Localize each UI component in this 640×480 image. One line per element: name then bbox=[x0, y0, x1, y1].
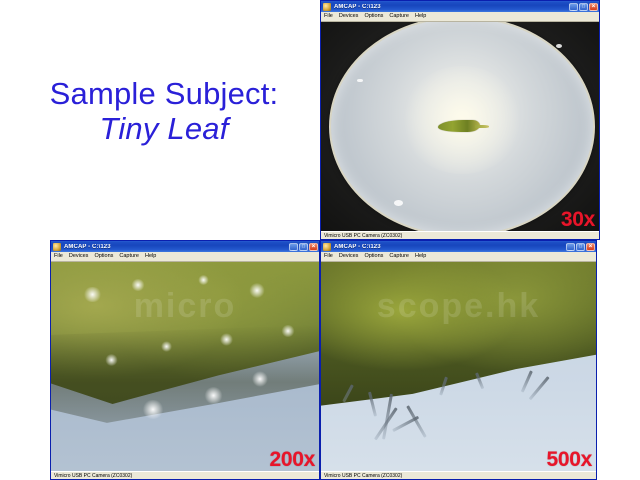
status-text: Vimicro USB PC Camera (ZC0302) bbox=[54, 474, 132, 479]
video-preview-30x: 30x bbox=[321, 22, 599, 231]
maximize-icon: □ bbox=[582, 4, 585, 9]
minimize-icon: _ bbox=[569, 246, 572, 251]
trichome bbox=[521, 370, 533, 392]
leaf-shading bbox=[51, 325, 319, 430]
menu-item-devices[interactable]: Devices bbox=[339, 254, 359, 260]
status-bar: Vimicro USB PC Camera (ZC0302) bbox=[51, 471, 319, 480]
title-bar[interactable]: AMCAP - C:\123 _ □ ✕ bbox=[321, 1, 599, 12]
window-title: AMCAP - C:\123 bbox=[334, 4, 569, 10]
menu-item-devices[interactable]: Devices bbox=[339, 14, 359, 20]
video-preview-200x: micro 200x bbox=[51, 262, 319, 471]
menu-item-file[interactable]: File bbox=[324, 14, 333, 20]
screenshot-canvas: Sample Subject: Tiny Leaf AMCAP - C:\123… bbox=[0, 0, 640, 480]
menu-item-capture[interactable]: Capture bbox=[389, 254, 409, 260]
dish-speck bbox=[357, 79, 362, 82]
menu-item-options[interactable]: Options bbox=[364, 254, 383, 260]
close-button[interactable]: ✕ bbox=[589, 3, 598, 11]
maximize-icon: □ bbox=[579, 244, 582, 249]
app-icon bbox=[323, 243, 331, 251]
minimize-button[interactable]: _ bbox=[566, 243, 575, 251]
app-icon bbox=[53, 243, 61, 251]
window-title: AMCAP - C:\123 bbox=[64, 244, 289, 250]
status-bar: Vimicro USB PC Camera (ZC0302) bbox=[321, 471, 596, 480]
minimize-button[interactable]: _ bbox=[289, 243, 298, 251]
status-bar: Vimicro USB PC Camera (ZC0302) bbox=[321, 231, 599, 240]
menu-item-help[interactable]: Help bbox=[415, 254, 426, 260]
window-controls[interactable]: _ □ ✕ bbox=[289, 243, 318, 251]
dish-speck bbox=[394, 200, 403, 206]
menu-item-options[interactable]: Options bbox=[94, 254, 113, 260]
menu-item-file[interactable]: File bbox=[324, 254, 333, 260]
title-bar[interactable]: AMCAP - C:\123 _ □ ✕ bbox=[51, 241, 319, 252]
leaf-body bbox=[438, 120, 480, 132]
page-title-line-1: Sample Subject: bbox=[14, 78, 314, 111]
petri-dish-scene bbox=[321, 22, 599, 231]
menu-bar[interactable]: File Devices Options Capture Help bbox=[51, 252, 319, 262]
page-title: Sample Subject: Tiny Leaf bbox=[14, 78, 314, 146]
maximize-icon: □ bbox=[302, 244, 305, 249]
page-title-line-2: Tiny Leaf bbox=[14, 113, 314, 146]
maximize-button[interactable]: □ bbox=[299, 243, 308, 251]
title-bar[interactable]: AMCAP - C:\123 _ □ ✕ bbox=[321, 241, 596, 252]
close-button[interactable]: ✕ bbox=[586, 243, 595, 251]
menu-bar[interactable]: File Devices Options Capture Help bbox=[321, 12, 599, 22]
status-text: Vimicro USB PC Camera (ZC0302) bbox=[324, 234, 402, 239]
petri-dish bbox=[329, 22, 594, 231]
magnification-label-200x: 200x bbox=[269, 449, 315, 470]
window-controls[interactable]: _ □ ✕ bbox=[569, 3, 598, 11]
app-icon bbox=[323, 3, 331, 11]
window-controls[interactable]: _ □ ✕ bbox=[566, 243, 595, 251]
menu-item-capture[interactable]: Capture bbox=[389, 14, 409, 20]
maximize-button[interactable]: □ bbox=[579, 3, 588, 11]
menu-bar[interactable]: File Devices Options Capture Help bbox=[321, 252, 596, 262]
menu-item-devices[interactable]: Devices bbox=[69, 254, 89, 260]
menu-item-help[interactable]: Help bbox=[145, 254, 156, 260]
maximize-button[interactable]: □ bbox=[576, 243, 585, 251]
magnification-label-30x: 30x bbox=[561, 209, 595, 230]
leaf-trichome-scene: scope.hk bbox=[321, 262, 596, 471]
menu-item-options[interactable]: Options bbox=[364, 14, 383, 20]
close-icon: ✕ bbox=[311, 244, 315, 249]
video-preview-500x: scope.hk 500x bbox=[321, 262, 596, 471]
menu-item-help[interactable]: Help bbox=[415, 14, 426, 20]
leaf-stem bbox=[475, 125, 489, 128]
amcap-window-500x[interactable]: AMCAP - C:\123 _ □ ✕ File Devices Option… bbox=[320, 240, 597, 480]
amcap-window-30x[interactable]: AMCAP - C:\123 _ □ ✕ File Devices Option… bbox=[320, 0, 600, 240]
close-icon: ✕ bbox=[591, 4, 595, 9]
leaf-tissue bbox=[321, 262, 596, 412]
minimize-icon: _ bbox=[572, 6, 575, 11]
leaf-specimen bbox=[438, 120, 480, 132]
close-icon: ✕ bbox=[588, 244, 592, 249]
window-title: AMCAP - C:\123 bbox=[334, 244, 566, 250]
trichome bbox=[528, 376, 549, 400]
dish-speck bbox=[556, 44, 562, 48]
menu-item-file[interactable]: File bbox=[54, 254, 63, 260]
magnification-label-500x: 500x bbox=[546, 449, 592, 470]
leaf-edge-scene: micro bbox=[51, 262, 319, 471]
menu-item-capture[interactable]: Capture bbox=[119, 254, 139, 260]
amcap-window-200x[interactable]: AMCAP - C:\123 _ □ ✕ File Devices Option… bbox=[50, 240, 320, 480]
minimize-icon: _ bbox=[292, 246, 295, 251]
status-text: Vimicro USB PC Camera (ZC0302) bbox=[324, 474, 402, 479]
close-button[interactable]: ✕ bbox=[309, 243, 318, 251]
minimize-button[interactable]: _ bbox=[569, 3, 578, 11]
